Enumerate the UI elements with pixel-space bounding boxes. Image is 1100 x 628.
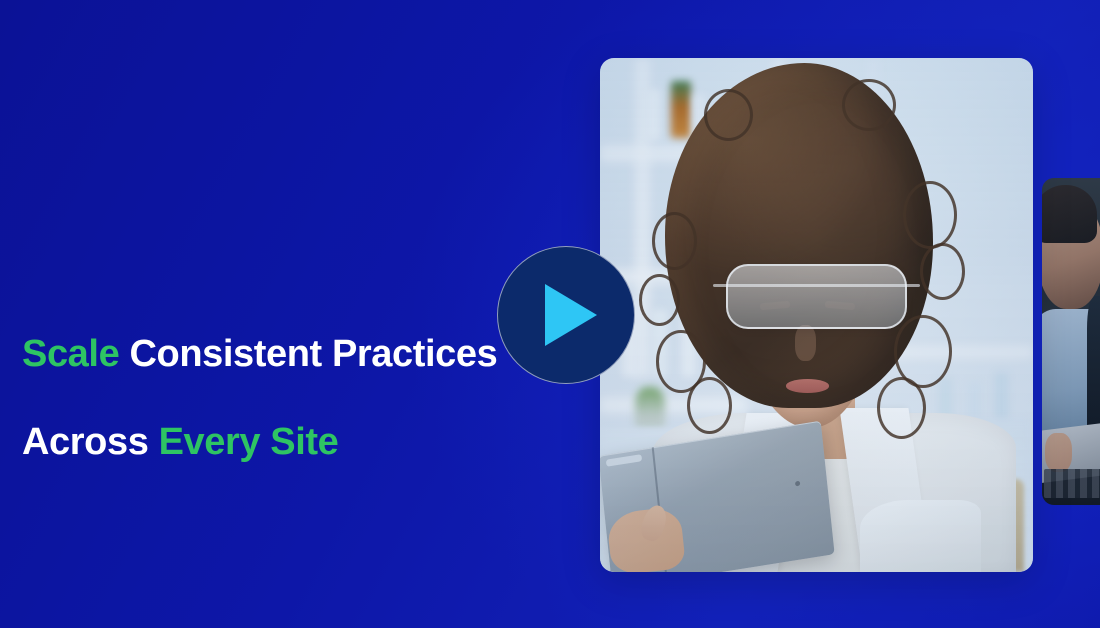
next-photo-color-grade: [1042, 178, 1100, 505]
photo-vignette: [600, 58, 1033, 572]
hero-photo: [600, 58, 1033, 572]
hero-media-card[interactable]: [600, 58, 1033, 572]
headline-accent-every-site: Every Site: [159, 421, 339, 463]
next-slide-media-card[interactable]: [1042, 178, 1100, 505]
next-slide-photo: [1042, 178, 1100, 505]
play-icon: [545, 284, 597, 346]
headline-plain-consistent-practices: Consistent Practices: [119, 333, 497, 375]
headline-line-2: Across Every Site: [22, 420, 642, 464]
play-video-button[interactable]: [497, 246, 635, 384]
video-hero-banner: Scale Consistent Practices Across Every …: [0, 0, 1100, 628]
headline-accent-scale: Scale: [22, 333, 119, 375]
headline-plain-across: Across: [22, 421, 159, 463]
